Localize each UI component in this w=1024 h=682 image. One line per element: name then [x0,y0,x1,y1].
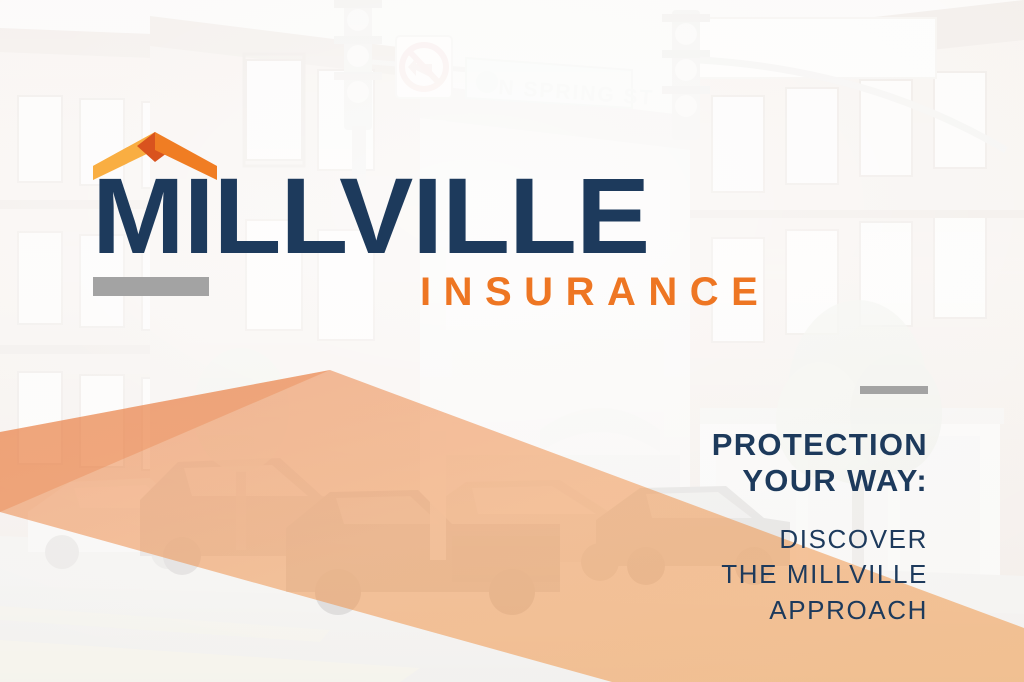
logo-wordmark: MILLVILLE [92,162,649,270]
logo-subword: INSURANCE [420,272,770,312]
message-block: PROTECTION YOUR WAY: DISCOVER THE MILLVI… [548,386,928,629]
message-headline: PROTECTION YOUR WAY: [548,427,928,500]
poster-canvas: N SPRING ST [0,0,1024,682]
message-subhead: DISCOVER THE MILLVILLE APPROACH [548,522,928,630]
message-gray-rule [860,386,928,394]
logo-underbar [93,277,209,296]
